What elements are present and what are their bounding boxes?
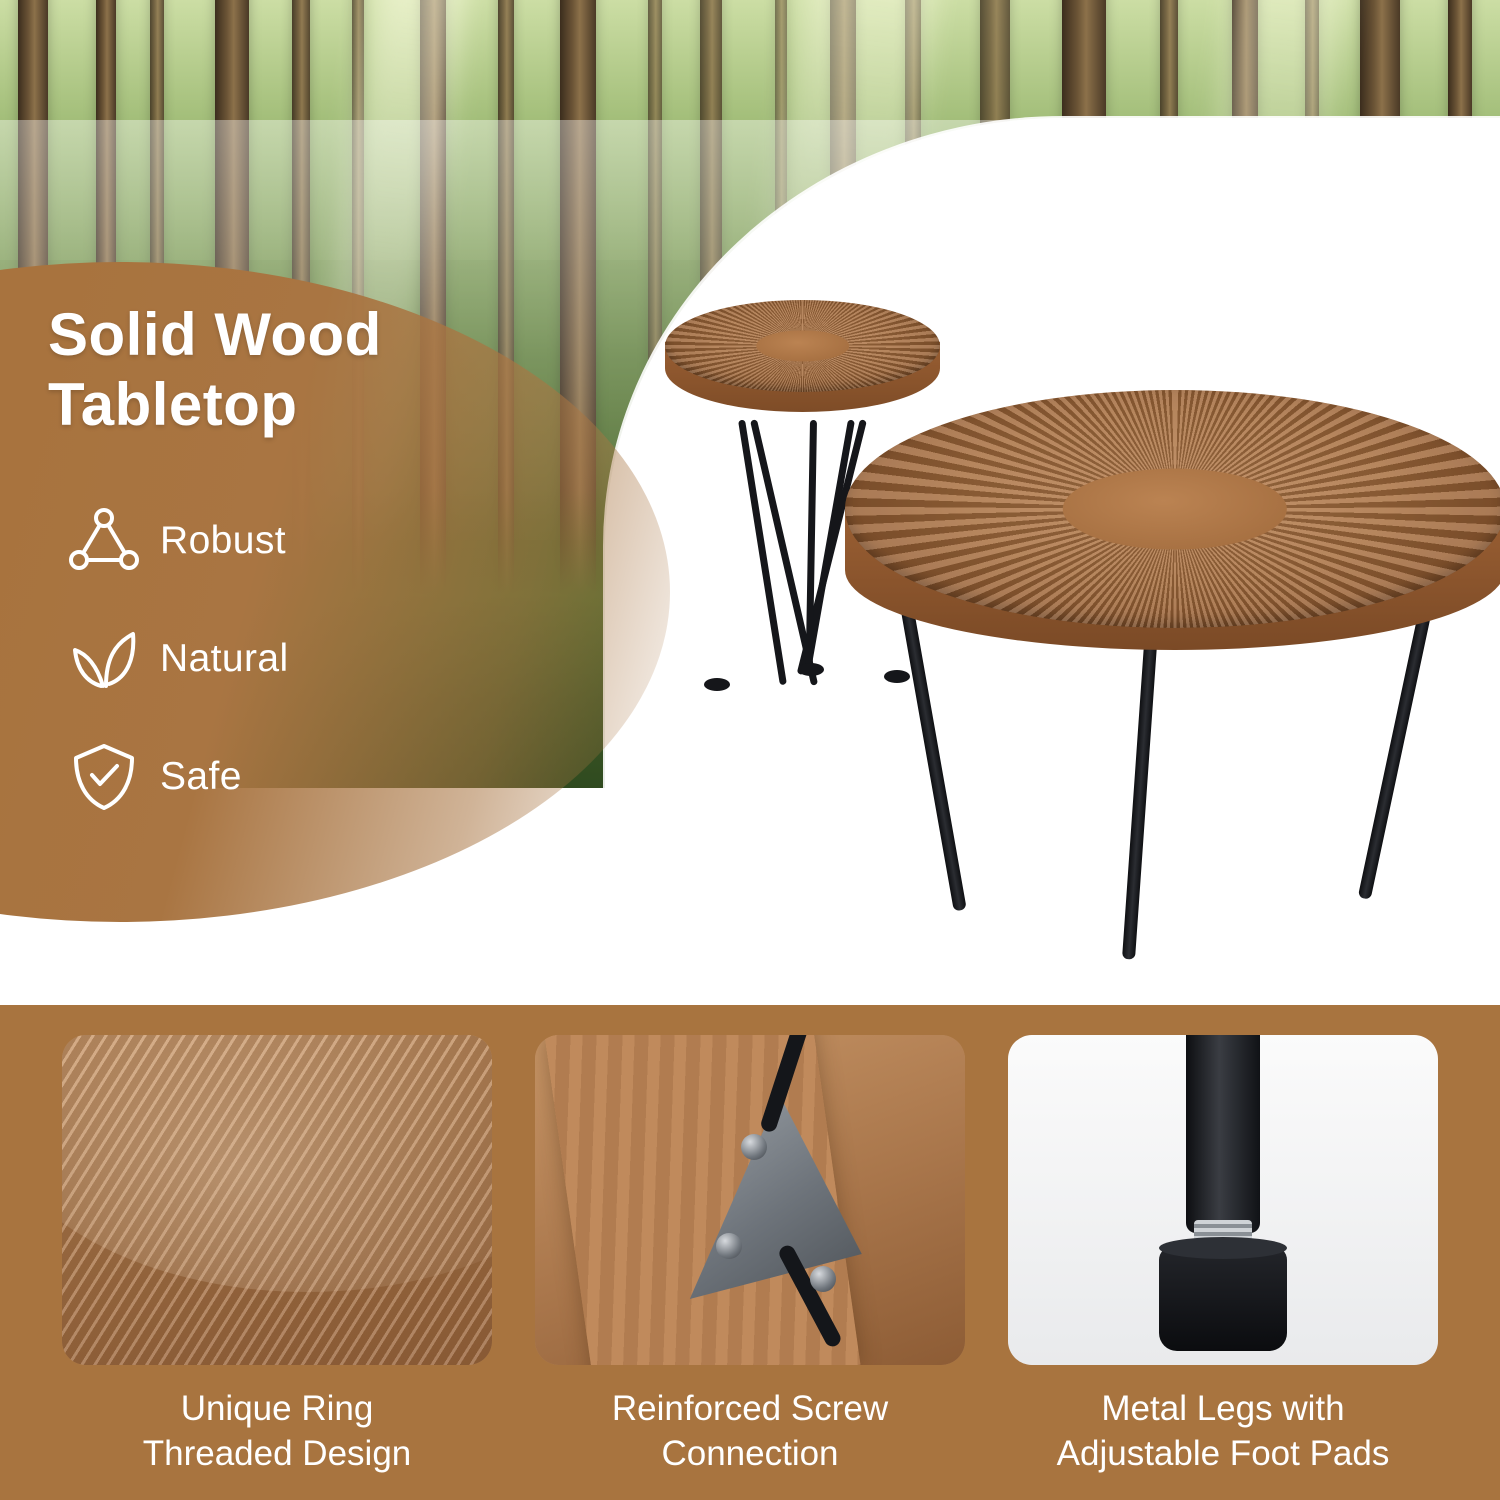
feature-label: Safe xyxy=(160,755,242,799)
feature-card-screw-connection: Reinforced Screw Connection xyxy=(535,1035,965,1477)
product-photo xyxy=(620,270,1500,920)
metal-leg-adjustable-foot-pad-photo xyxy=(1008,1035,1438,1365)
grooved-wood-surface-photo xyxy=(62,1035,492,1365)
feature-card-adjustable-foot-pads: Metal Legs with Adjustable Foot Pads xyxy=(1008,1035,1438,1477)
feature-item-robust: Robust xyxy=(48,482,608,600)
feature-item-natural: Natural xyxy=(48,600,608,718)
feature-item-safe: Safe xyxy=(48,718,608,836)
metal-bracket-screw-connection-photo xyxy=(535,1035,965,1365)
large-table-surface xyxy=(845,390,1500,628)
feature-card-ring-threaded-design: Unique Ring Threaded Design xyxy=(62,1035,492,1477)
page-title: Solid Wood Tabletop xyxy=(48,300,608,440)
feature-label: Natural xyxy=(160,637,289,681)
small-table-surface xyxy=(665,300,940,392)
shield-check-icon xyxy=(48,738,160,816)
hero-copy: Solid Wood Tabletop Robust xyxy=(48,300,608,836)
center-hub xyxy=(1063,469,1287,550)
triangle-nodes-icon xyxy=(48,502,160,580)
feature-label: Robust xyxy=(160,519,286,563)
hero-section: Solid Wood Tabletop Robust xyxy=(0,0,1500,995)
feature-cards-strip: Unique Ring Threaded Design Reinforced S… xyxy=(0,1005,1500,1500)
center-hub xyxy=(756,330,850,361)
feature-cards: Unique Ring Threaded Design Reinforced S… xyxy=(62,1035,1438,1477)
card-caption: Unique Ring Threaded Design xyxy=(62,1387,492,1477)
large-table xyxy=(845,390,1500,910)
card-caption: Reinforced Screw Connection xyxy=(535,1387,965,1477)
product-feature-image: Solid Wood Tabletop Robust xyxy=(0,0,1500,1500)
card-caption: Metal Legs with Adjustable Foot Pads xyxy=(1008,1387,1438,1477)
leaf-icon xyxy=(48,620,160,698)
